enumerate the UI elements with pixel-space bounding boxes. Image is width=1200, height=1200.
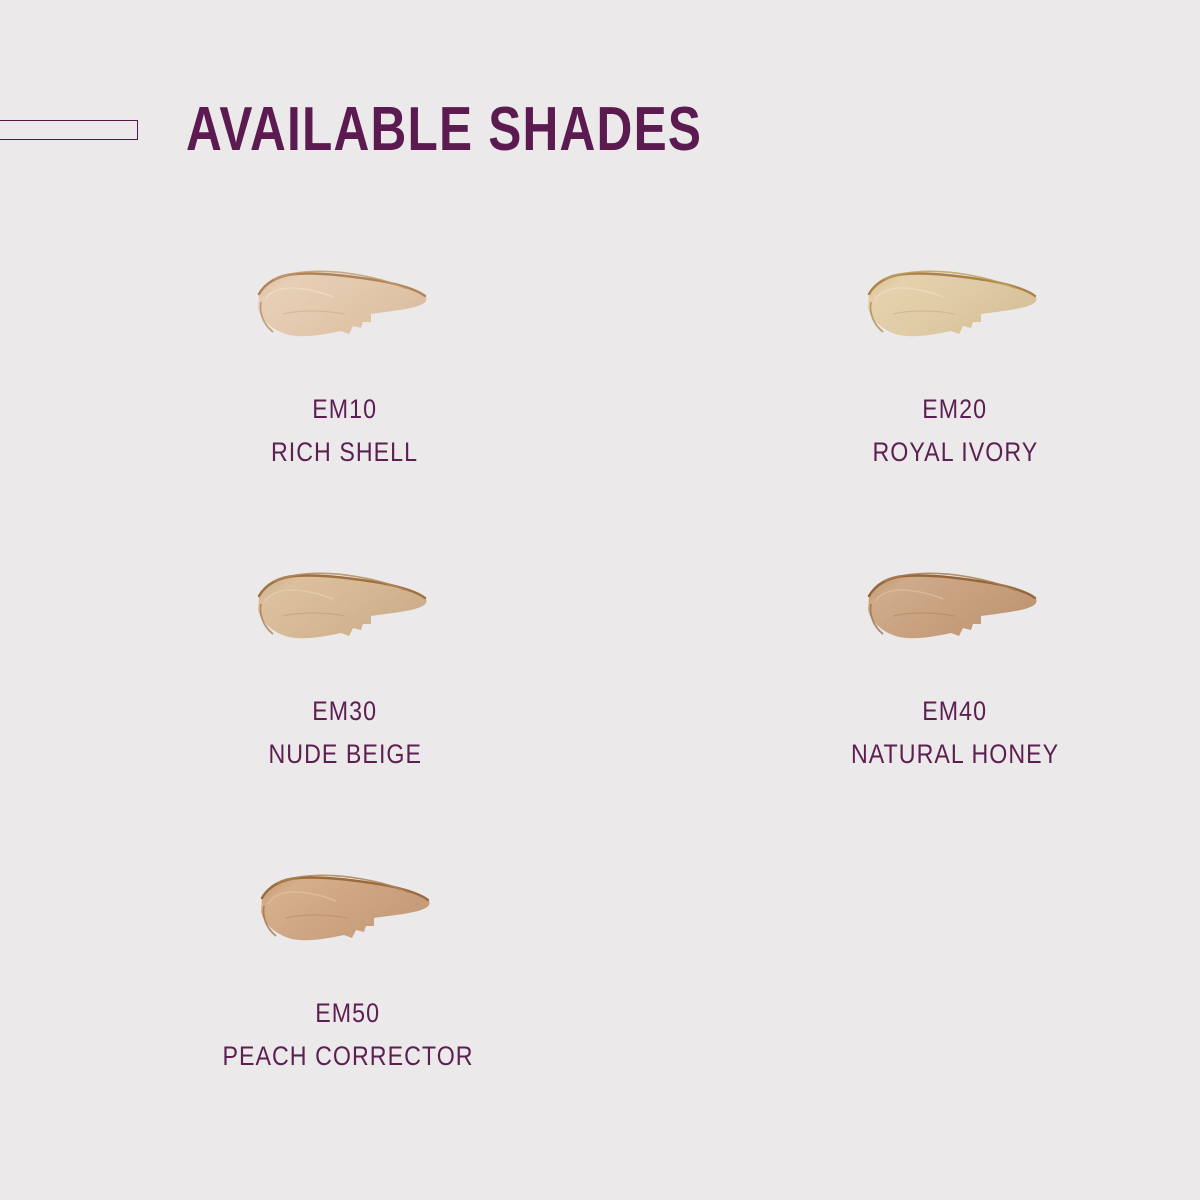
page-title: AVAILABLE SHADES (186, 96, 702, 164)
swatch-smear-icon (863, 564, 1048, 654)
shade-name: ROYAL IVORY (872, 437, 1038, 467)
swatch-em40 (863, 564, 1048, 654)
shade-code: EM10 (313, 394, 378, 424)
swatch-em50 (256, 866, 441, 956)
swatch-em20 (863, 262, 1048, 352)
swatch-smear-icon (253, 564, 438, 654)
shade-code: EM30 (313, 696, 378, 726)
shade-card-em40[interactable]: EM40 NATURAL HONEY (600, 542, 1200, 844)
swatch-smear-icon (253, 262, 438, 352)
shade-card-em10[interactable]: EM10 RICH SHELL (0, 240, 600, 542)
shade-code: EM40 (923, 696, 988, 726)
shade-grid: EM10 RICH SHELL (0, 240, 1200, 1146)
shade-name: NATURAL HONEY (851, 739, 1059, 769)
swatch-smear-icon (863, 262, 1048, 352)
shade-name: NUDE BEIGE (268, 739, 422, 769)
decorative-rule (0, 120, 138, 140)
swatch-em30 (253, 564, 438, 654)
page-header: AVAILABLE SHADES (0, 0, 1200, 230)
shade-card-em20[interactable]: EM20 ROYAL IVORY (600, 240, 1200, 542)
swatch-em10 (253, 262, 438, 352)
shade-name: RICH SHELL (271, 437, 418, 467)
swatch-smear-icon (256, 866, 441, 956)
shade-name: PEACH CORRECTOR (222, 1041, 473, 1071)
shade-code: EM20 (923, 394, 988, 424)
shade-card-em50[interactable]: EM50 PEACH CORRECTOR (0, 844, 600, 1146)
shade-code: EM50 (316, 998, 381, 1028)
shade-card-em30[interactable]: EM30 NUDE BEIGE (0, 542, 600, 844)
